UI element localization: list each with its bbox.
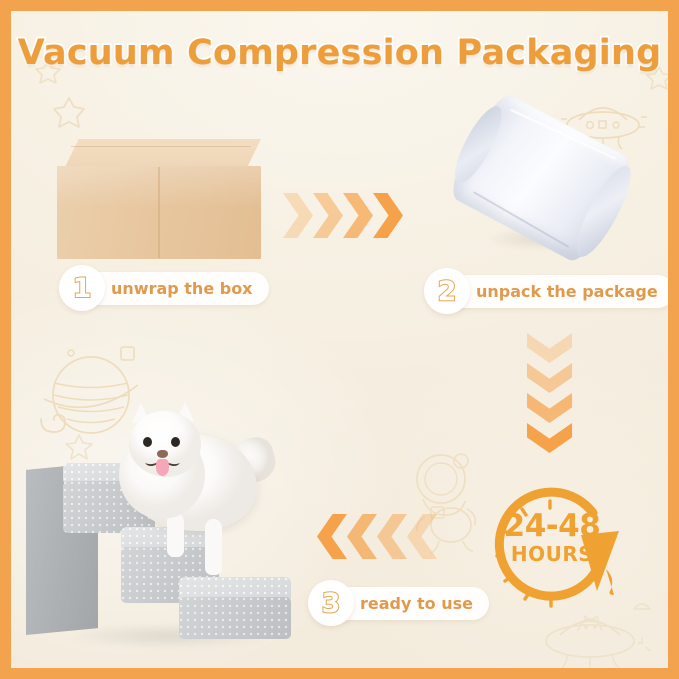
step-1-text: unwrap the box	[111, 279, 253, 298]
pet-stairs-image	[21, 401, 321, 663]
step-3-badge: 3	[308, 580, 354, 626]
chevron-right-icon	[283, 193, 313, 238]
step-3-text: ready to use	[360, 594, 473, 613]
dog-eye-left	[143, 437, 152, 447]
step-1-pill-body: unwrap the box	[81, 272, 269, 305]
dog-image	[109, 401, 274, 576]
stair-riser-1	[179, 597, 291, 639]
dog-hind-leg	[205, 519, 222, 575]
step-1-badge: 1	[59, 265, 105, 311]
chevron-down-icon	[527, 393, 572, 423]
page-title: Vacuum Compression Packaging	[11, 33, 668, 73]
chevron-left-icon	[347, 514, 377, 559]
chevron-down-icon	[527, 423, 572, 453]
dog-nose	[157, 450, 168, 458]
step-3-label: 3 ready to use	[308, 585, 489, 621]
chevron-right-icon	[343, 193, 373, 238]
chevron-right-icon	[313, 193, 343, 238]
dog-tongue	[156, 459, 169, 476]
chevron-down-icon	[527, 333, 572, 363]
step-3-number: 3	[322, 590, 341, 617]
step-1-number: 1	[73, 275, 92, 302]
wait-duration-badge: 24-48 HOURS	[477, 473, 627, 618]
cardboard-box-image	[57, 139, 267, 267]
step-2-text: unpack the package	[476, 282, 658, 301]
step-2-pill-body: unpack the package	[446, 275, 674, 308]
step-2-label: 2 unpack the package	[424, 273, 674, 309]
step-1-label: 1 unwrap the box	[59, 270, 269, 306]
arrow-group-left	[317, 514, 437, 559]
chevron-left-icon	[407, 514, 437, 559]
dog-front-leg	[167, 513, 184, 557]
box-top-face	[65, 139, 261, 167]
chevron-right-icon	[373, 193, 403, 238]
chevron-down-icon	[527, 363, 572, 393]
dog-eye-right	[171, 437, 180, 447]
vacuum-sealed-roll-image	[454, 111, 629, 266]
arrow-group-right	[283, 193, 403, 238]
arrow-group-down	[527, 333, 572, 453]
box-top-crease	[71, 146, 251, 147]
chevron-left-icon	[317, 514, 347, 559]
step-2-badge: 2	[424, 268, 470, 314]
clock-arrow-icon	[477, 473, 627, 618]
chevron-left-icon	[377, 514, 407, 559]
infographic-poster: Vacuum Compression Packaging 1 unwra	[0, 0, 679, 679]
step-2-number: 2	[438, 278, 457, 305]
box-seam	[158, 167, 160, 258]
